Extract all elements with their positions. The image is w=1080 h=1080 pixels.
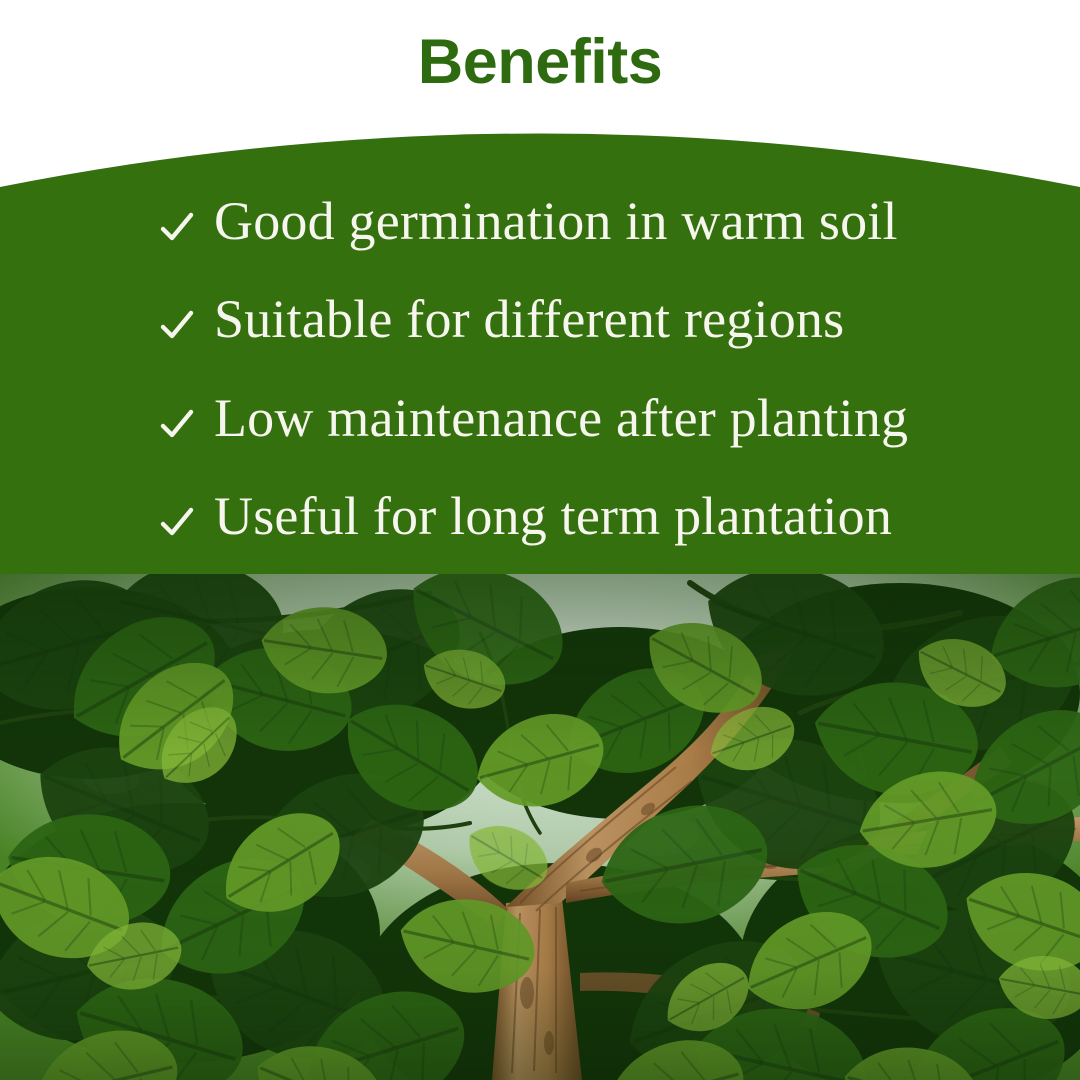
page-title: Benefits [418,31,663,94]
benefit-list-item: Suitable for different regions [160,291,1020,348]
check-icon-glyph [160,309,194,343]
benefit-list-item: Low maintenance after planting [160,390,1020,447]
check-icon-glyph [160,408,194,442]
benefit-label: Good germination in warm soil [214,193,898,250]
benefit-label: Useful for long term plantation [214,488,892,545]
tree-canopy-illustration [0,573,1080,1080]
check-icon-glyph [160,211,194,245]
benefit-label: Suitable for different regions [214,291,844,348]
check-icon [160,500,194,534]
benefit-list-item: Good germination in warm soil [160,193,1020,250]
check-icon [160,205,194,239]
benefit-list-item: Useful for long term plantation [160,488,1020,545]
tree-canopy-photo [0,573,1080,1080]
check-icon-glyph [160,506,194,540]
title-area: Benefits [0,0,1080,118]
benefits-infographic-card: Benefits Good germination in warm soil [0,0,1080,1080]
benefit-label: Low maintenance after planting [214,390,908,447]
check-icon [160,303,194,337]
check-icon [160,402,194,436]
